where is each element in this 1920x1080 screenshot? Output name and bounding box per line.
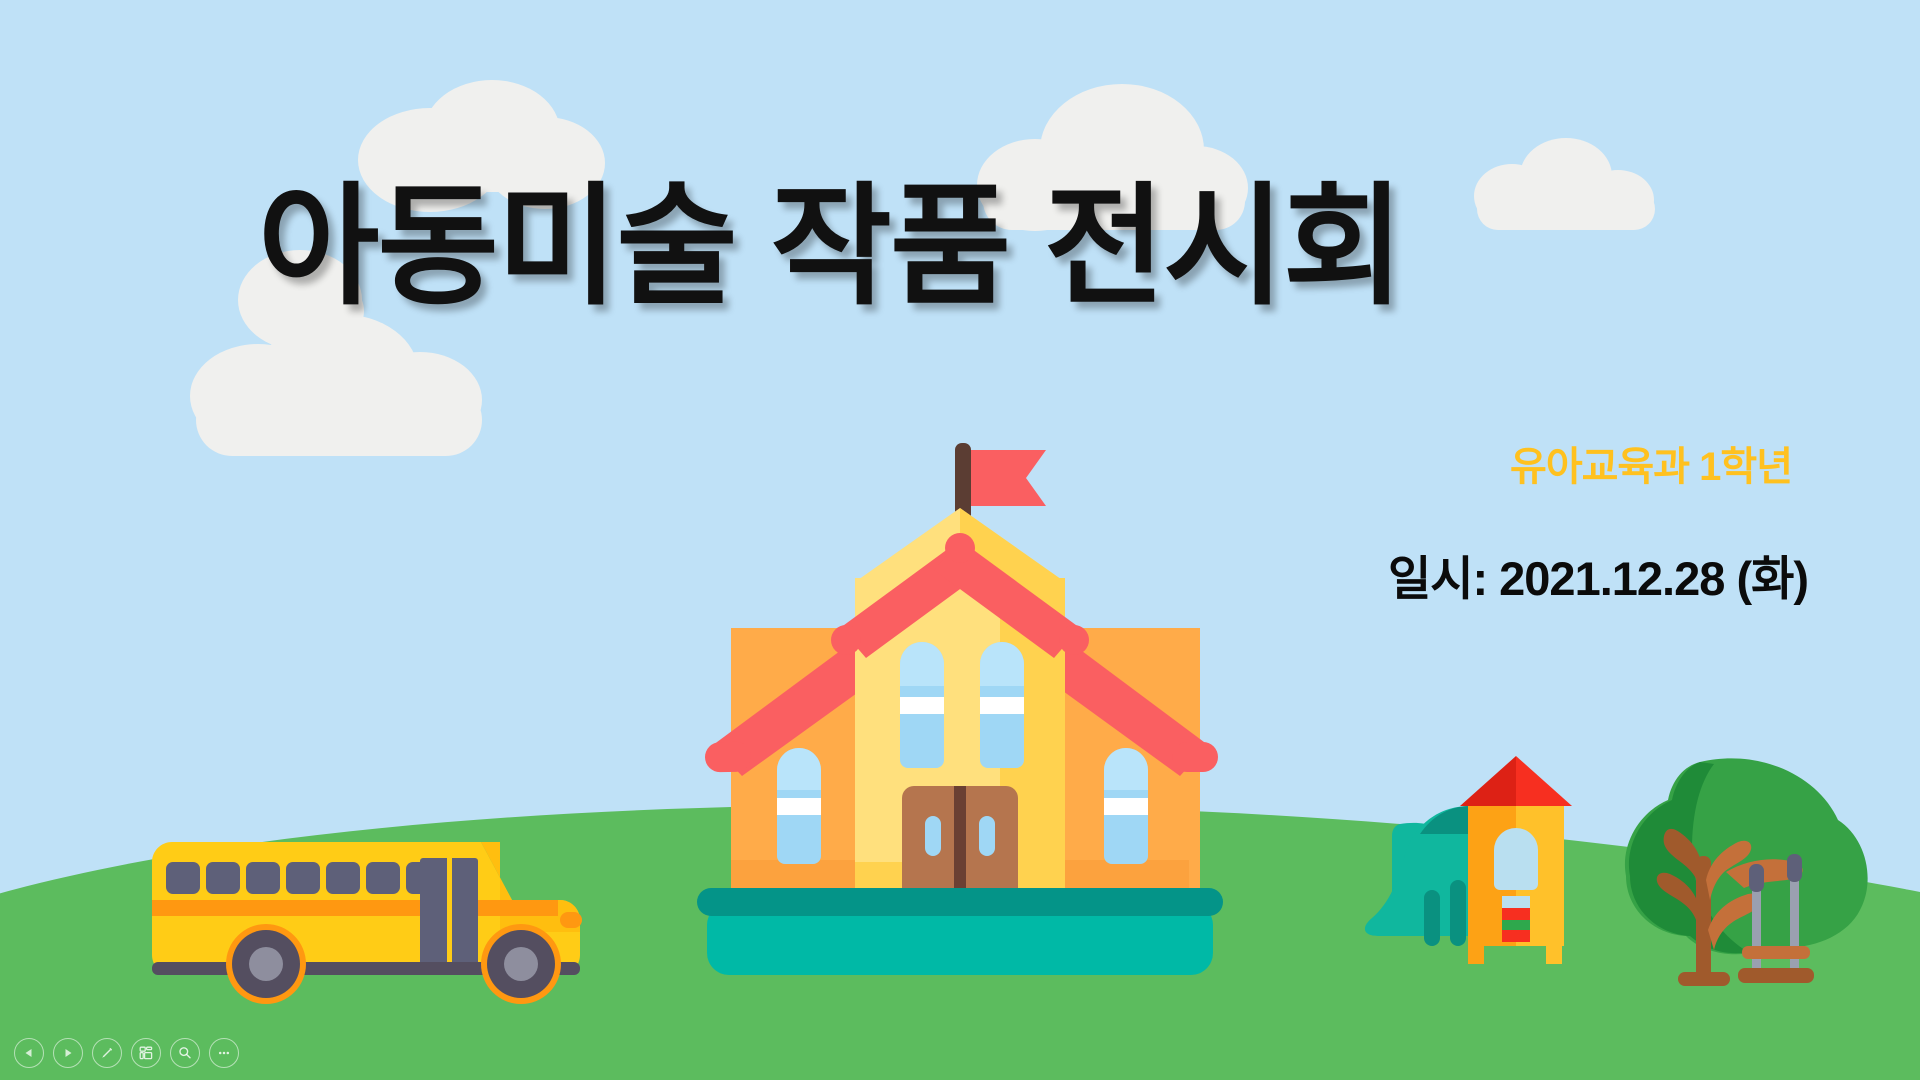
- school-side-window-left: [777, 748, 821, 864]
- swing-seat: [1742, 946, 1810, 959]
- tower-leg-right: [1546, 930, 1562, 964]
- school-roof-peak: [945, 533, 975, 563]
- pen-icon: [99, 1045, 115, 1061]
- slide-subtitle: 유아교육과 1학년: [1510, 434, 1792, 492]
- swing-anchor-right: [1787, 854, 1802, 882]
- school-door-window-left: [925, 816, 941, 856]
- prev-slide-button[interactable]: [14, 1038, 44, 1068]
- bus-window-row: [166, 862, 440, 894]
- tree-trunk-root: [1678, 972, 1730, 986]
- school-roof-right-cap: [1172, 742, 1218, 772]
- layout-view-button[interactable]: [131, 1038, 161, 1068]
- presentation-toolbar: [14, 1038, 239, 1068]
- zoom-tool-button[interactable]: [170, 1038, 200, 1068]
- slide-leg-left: [1424, 890, 1440, 946]
- school-upper-window-left: [900, 642, 944, 768]
- bus-front-wheel: [481, 924, 561, 1004]
- school-roof-left-cap: [705, 742, 752, 773]
- bus-headlight: [560, 912, 582, 928]
- presentation-slide: 아동미술 작품 전시회 유아교육과 1학년 일시: 2021.12.28 (화): [0, 0, 1920, 1080]
- school-door-window-right: [979, 816, 995, 856]
- school-door-split: [954, 786, 966, 894]
- tower-ladder: [1502, 896, 1530, 942]
- swing-anchor-left: [1749, 864, 1764, 892]
- bus-stripe: [152, 900, 558, 916]
- ellipsis-icon: [216, 1045, 232, 1061]
- triangle-right-icon: [62, 1047, 74, 1059]
- page-title: 아동미술 작품 전시회: [258, 178, 1402, 317]
- school-upper-window-right: [980, 642, 1024, 768]
- school-side-window-right: [1104, 748, 1148, 864]
- tower-window: [1494, 828, 1538, 890]
- slide-leg-right: [1450, 880, 1466, 946]
- school-platform-top: [697, 888, 1223, 916]
- more-options-button[interactable]: [209, 1038, 239, 1068]
- triangle-left-icon: [23, 1047, 35, 1059]
- bus-door-split: [447, 858, 452, 968]
- swing-base-bar: [1738, 968, 1814, 983]
- layout-grid-icon: [138, 1045, 154, 1061]
- slide-date-label: 일시: 2021.12.28 (화): [1388, 540, 1808, 609]
- bus-rear-wheel: [226, 924, 306, 1004]
- next-slide-button[interactable]: [53, 1038, 83, 1068]
- tower-leg-left: [1468, 930, 1484, 964]
- pen-tool-button[interactable]: [92, 1038, 122, 1068]
- magnifier-icon: [177, 1045, 193, 1061]
